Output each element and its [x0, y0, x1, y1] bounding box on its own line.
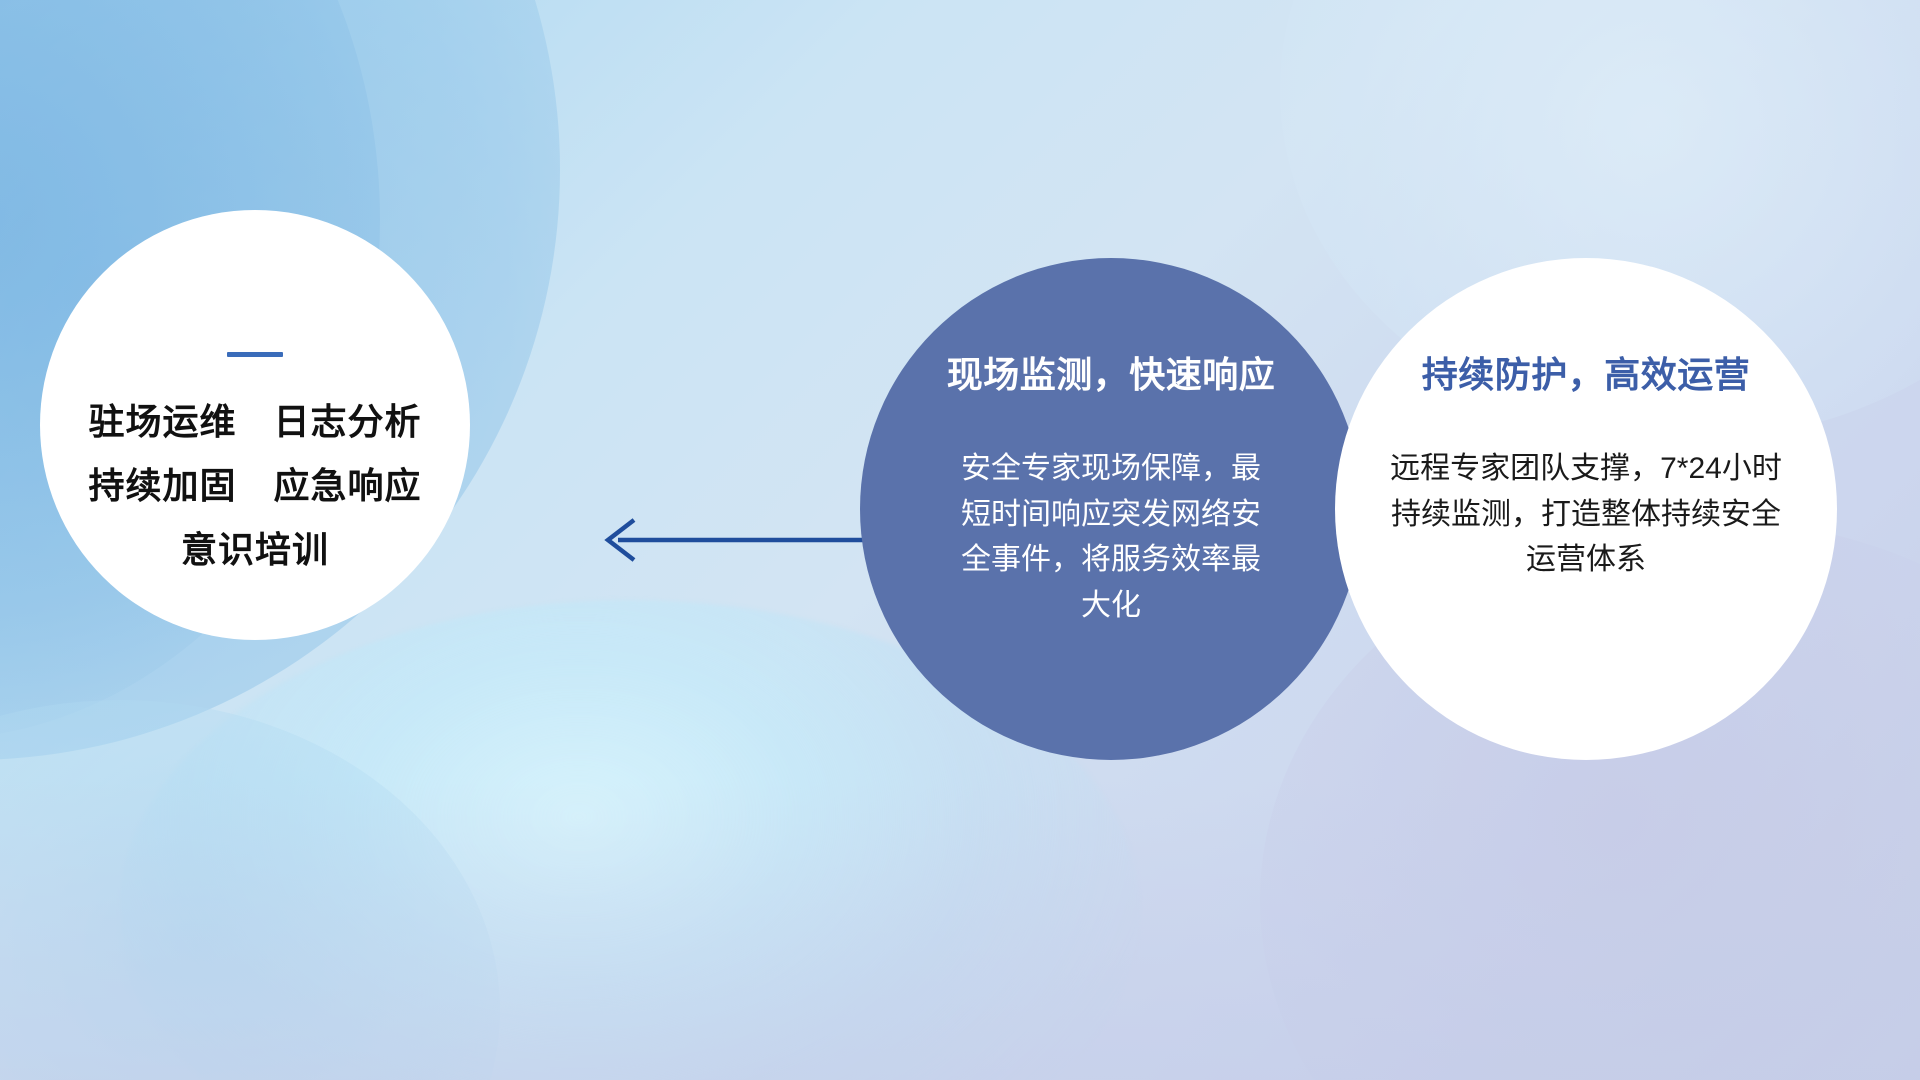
left-keyword-circle: 驻场运维 日志分析 持续加固 应急响应 意识培训	[40, 210, 470, 640]
divider-dash-icon	[227, 352, 283, 357]
right-operations-circle: 持续防护，高效运营 远程专家团队支撑，7*24小时持续监测，打造整体持续安全运营…	[1335, 258, 1837, 760]
connector-arrow-left-icon	[590, 508, 890, 572]
middle-card-body: 安全专家现场保障，最短时间响应突发网络安全事件，将服务效率最大化	[961, 446, 1261, 628]
left-keyword-line-1: 驻场运维 日志分析	[88, 403, 421, 441]
left-keyword-line-3: 意识培训	[181, 531, 329, 569]
left-keyword-line-2: 持续加固 应急响应	[88, 467, 421, 505]
middle-onsite-circle: 现场监测，快速响应 安全专家现场保障，最短时间响应突发网络安全事件，将服务效率最…	[860, 258, 1362, 760]
slide-canvas: 驻场运维 日志分析 持续加固 应急响应 意识培训 现场监测，快速响应 安全专家现…	[0, 0, 1920, 1080]
middle-card-title: 现场监测，快速响应	[947, 346, 1276, 398]
right-card-title: 持续防护，高效运营	[1422, 346, 1751, 398]
left-keyword-list: 驻场运维 日志分析 持续加固 应急响应 意识培训	[40, 403, 470, 568]
right-card-body: 远程专家团队支撑，7*24小时持续监测，打造整体持续安全运营体系	[1386, 446, 1786, 583]
background-band-bottom	[0, 780, 1920, 1080]
